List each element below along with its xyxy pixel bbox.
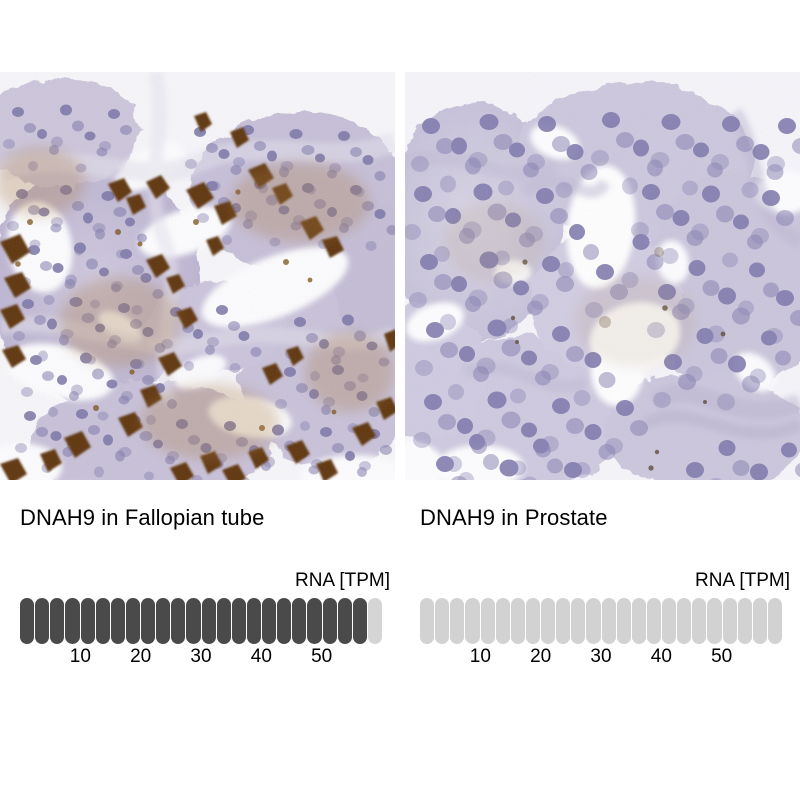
rna-tick-40: 40 (251, 646, 272, 668)
rna-bar-segment (96, 598, 110, 644)
rna-bar-segment (526, 598, 540, 644)
rna-bar-segment (571, 598, 585, 644)
rna-bar-segment (292, 598, 306, 644)
rna-bar-segment (632, 598, 646, 644)
rna-bar-segment (723, 598, 737, 644)
rna-bar-segment (20, 598, 34, 644)
rna-bar-segment (232, 598, 246, 644)
rna-bar-segment (338, 598, 352, 644)
rna-bar-track-right[interactable] (420, 598, 782, 644)
micrograph-prostate[interactable] (405, 72, 800, 480)
rna-bar-track-left[interactable] (20, 598, 382, 644)
rna-tick-20: 20 (130, 646, 151, 668)
rna-bar-segment (368, 598, 382, 644)
rna-bar-segment (171, 598, 185, 644)
rna-bar-segment (81, 598, 95, 644)
rna-tick-50: 50 (311, 646, 332, 668)
rna-bar-segment (353, 598, 367, 644)
rna-bar-segment (753, 598, 767, 644)
rna-bar-segment (247, 598, 261, 644)
rna-bar-segment (141, 598, 155, 644)
rna-bar-segment (556, 598, 570, 644)
rna-bar-segment (217, 598, 231, 644)
rna-bar-segment (435, 598, 449, 644)
rna-expression-fallopian-tube: RNA [TPM] 1020304050 (20, 570, 390, 680)
rna-bar-segment (307, 598, 321, 644)
rna-bar-segment (768, 598, 782, 644)
fallopian-tube-image (0, 72, 395, 480)
rna-bar-segment (65, 598, 79, 644)
rna-expression-prostate: RNA [TPM] 1020304050 (420, 570, 790, 680)
rna-axis-label-left: RNA [TPM] (295, 570, 390, 592)
rna-bar-segment (511, 598, 525, 644)
rna-bar-segment (647, 598, 661, 644)
rna-tick-10: 10 (470, 646, 491, 668)
micrograph-fallopian-tube[interactable] (0, 72, 395, 480)
rna-bar-segment (450, 598, 464, 644)
rna-bar-segment (617, 598, 631, 644)
rna-tick-30: 30 (190, 646, 211, 668)
rna-bar-segment (465, 598, 479, 644)
caption-prostate: DNAH9 in Prostate (420, 505, 608, 531)
rna-bar-segment (662, 598, 676, 644)
micrograph-panels (0, 72, 800, 480)
rna-tick-20: 20 (530, 646, 551, 668)
rna-bar-segment (602, 598, 616, 644)
rna-bar-segment (586, 598, 600, 644)
rna-bar-segment (35, 598, 49, 644)
rna-bar-segment (262, 598, 276, 644)
rna-bar-segment (277, 598, 291, 644)
rna-bar-segment (50, 598, 64, 644)
rna-bar-segment (738, 598, 752, 644)
rna-bar-segment (692, 598, 706, 644)
rna-bar-segment (186, 598, 200, 644)
rna-bar-segment (126, 598, 140, 644)
rna-bar-segment (323, 598, 337, 644)
rna-tick-30: 30 (590, 646, 611, 668)
rna-bar-segment (707, 598, 721, 644)
rna-tick-40: 40 (651, 646, 672, 668)
rna-tick-50: 50 (711, 646, 732, 668)
rna-bar-segment (677, 598, 691, 644)
rna-bar-segment (202, 598, 216, 644)
rna-axis-label-right: RNA [TPM] (695, 570, 790, 592)
rna-bar-segment (156, 598, 170, 644)
figure-root: DNAH9 in Fallopian tube DNAH9 in Prostat… (0, 0, 800, 800)
prostate-image (405, 72, 800, 480)
rna-bar-segment (481, 598, 495, 644)
rna-tick-labels-right: 1020304050 (420, 646, 782, 672)
caption-fallopian-tube: DNAH9 in Fallopian tube (20, 505, 264, 531)
rna-bar-segment (496, 598, 510, 644)
rna-bar-segment (541, 598, 555, 644)
rna-bar-segment (111, 598, 125, 644)
rna-tick-labels-left: 1020304050 (20, 646, 382, 672)
rna-tick-10: 10 (70, 646, 91, 668)
rna-bar-segment (420, 598, 434, 644)
